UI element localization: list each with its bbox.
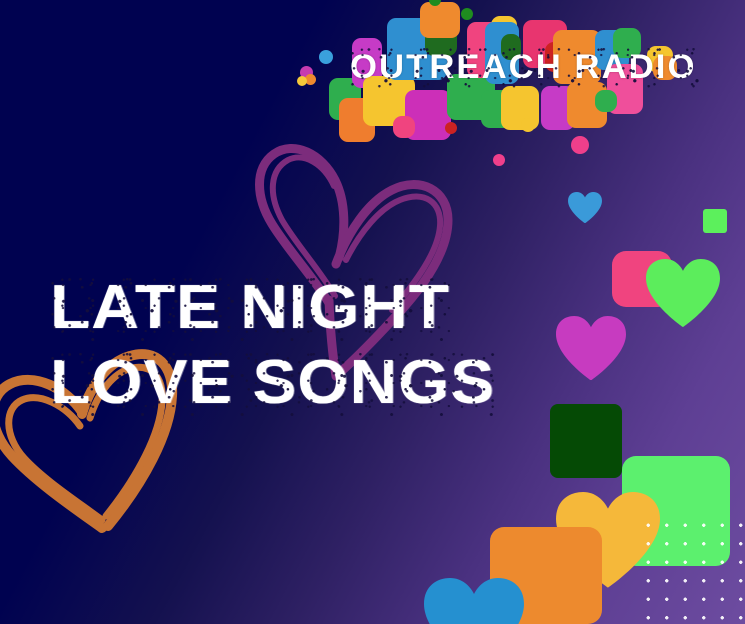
headline-line-2: LOVE SONGS bbox=[50, 353, 495, 414]
tile-orange-top bbox=[420, 2, 460, 38]
green-heart bbox=[646, 259, 720, 333]
dot-grid-pattern bbox=[635, 514, 745, 624]
tile-yellow-tiny bbox=[297, 76, 307, 86]
green-square-small bbox=[703, 209, 727, 233]
tile-red-dot bbox=[445, 122, 457, 134]
tile-blue-small bbox=[319, 50, 333, 64]
tile-yellow-dot bbox=[521, 118, 535, 132]
headline-line-1: LATE NIGHT bbox=[50, 278, 495, 339]
darkgreen-square bbox=[550, 404, 622, 478]
tile-pink-dot2 bbox=[493, 154, 505, 166]
tile-pink-dot bbox=[571, 136, 589, 154]
tile-green-tiny bbox=[461, 8, 473, 20]
blue-heart-small bbox=[568, 192, 602, 226]
headline-block: LATE NIGHT LOVE SONGS bbox=[50, 278, 470, 428]
station-wordmark-text: OUTREACH RADIO bbox=[350, 48, 696, 87]
headline-line-2-text: LOVE SONGS bbox=[50, 353, 495, 414]
magenta-heart bbox=[556, 316, 626, 386]
headline-line-1-text: LATE NIGHT bbox=[50, 278, 450, 339]
tile-pink-sq bbox=[393, 116, 415, 138]
tile-green-right2 bbox=[595, 90, 617, 112]
blue-heart-large bbox=[424, 578, 524, 624]
station-wordmark: OUTREACH RADIO bbox=[350, 48, 696, 87]
poster-canvas: OUTREACH RADIO LATE NIGHT LOVE SONGS bbox=[0, 0, 745, 624]
